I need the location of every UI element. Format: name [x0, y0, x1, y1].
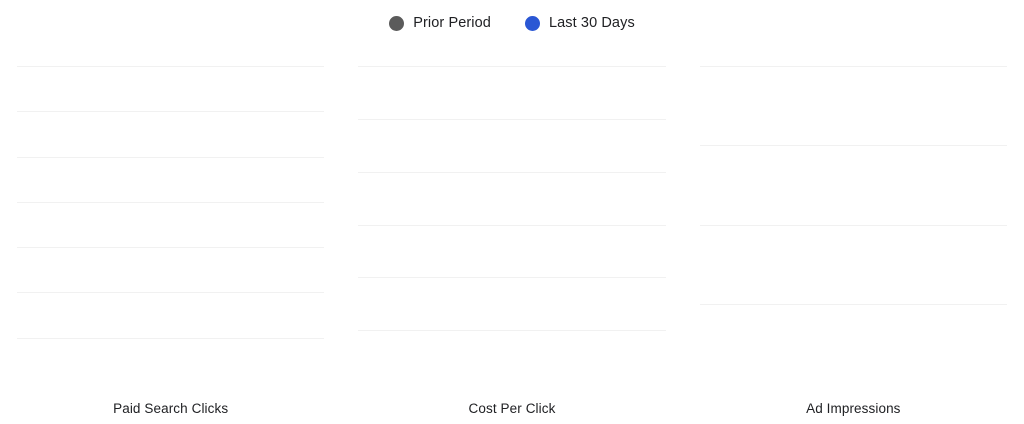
legend-item-prior-period[interactable]: Prior Period: [389, 15, 491, 31]
panel-paid-search-clicks: 0.93K 6.5K Paid Search Clicks: [0, 46, 341, 424]
legend-label: Last 30 Days: [549, 15, 635, 31]
chart-panels: 0.93K 6.5K Paid Search Clicks: [0, 46, 1024, 424]
plot-area: 20.8K 145.7K: [700, 46, 1007, 383]
circle-icon: [389, 16, 404, 31]
legend-item-last-30-days[interactable]: Last 30 Days: [525, 15, 635, 31]
bar-group: $1.15 $0.73: [358, 46, 665, 383]
plot-area: $1.15 $0.73: [358, 46, 665, 383]
comparison-bar-chart: Prior Period Last 30 Days 0.93K: [0, 0, 1024, 424]
legend-label: Prior Period: [413, 15, 491, 31]
circle-icon: [525, 16, 540, 31]
bar-group: 20.8K 145.7K: [700, 46, 1007, 383]
category-label: Cost Per Click: [341, 401, 682, 416]
panel-ad-impressions: 20.8K 145.7K Ad Impressions: [683, 46, 1024, 424]
panel-cost-per-click: $1.15 $0.73 Cost Per Click: [341, 46, 682, 424]
plot-area: 0.93K 6.5K: [17, 46, 324, 383]
chart-legend: Prior Period Last 30 Days: [0, 0, 1024, 46]
category-label: Ad Impressions: [683, 401, 1024, 416]
bar-group: 0.93K 6.5K: [17, 46, 324, 383]
category-label: Paid Search Clicks: [0, 401, 341, 416]
